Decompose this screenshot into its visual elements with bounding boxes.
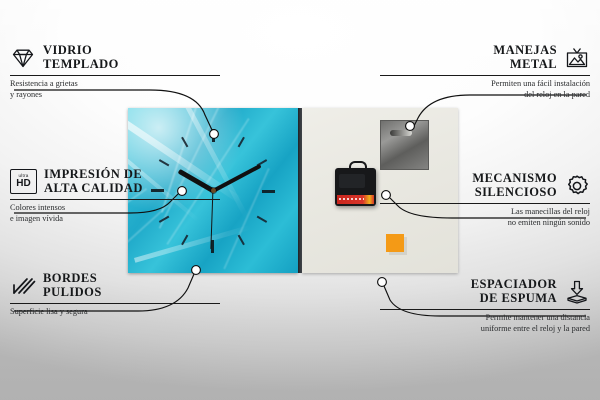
- feature-desc-line1: Permite mantener una distancia: [380, 313, 590, 324]
- divider: [10, 75, 220, 76]
- feature-header: MECANISMO SILENCIOSO: [380, 172, 590, 199]
- feature-header: BORDES PULIDOS: [10, 272, 220, 299]
- feature-header: VIDRIO TEMPLADO: [10, 44, 220, 71]
- feature-title: VIDRIO TEMPLADO: [43, 44, 119, 71]
- picture-frame-icon: [564, 45, 590, 71]
- quartz-mechanism: [335, 168, 376, 206]
- feature-header: ultra HD IMPRESIÓN DE ALTA CALIDAD: [10, 168, 220, 195]
- feature-desc-line2: e imagen vívida: [10, 214, 220, 225]
- feature-title: MECANISMO SILENCIOSO: [472, 172, 557, 199]
- gear-icon: [564, 173, 590, 199]
- feature-desc-line2: del reloj en la pared: [380, 90, 590, 101]
- feature-title: IMPRESIÓN DE ALTA CALIDAD: [44, 168, 143, 195]
- divider: [380, 203, 590, 204]
- feature-desc-line1: Permiten una fácil instalación: [380, 79, 590, 90]
- feature-header: ESPACIADOR DE ESPUMA: [380, 278, 590, 305]
- feature-desc-line2: y rayones: [10, 90, 220, 101]
- feature-desc-line1: Colores intensos: [10, 203, 220, 214]
- feature-desc-line1: Superficie lisa y segura: [10, 307, 220, 318]
- feature-mecanismo-silencioso[interactable]: MECANISMO SILENCIOSO Las manecillas del …: [380, 172, 590, 228]
- feature-title: ESPACIADOR DE ESPUMA: [471, 278, 557, 305]
- diamond-icon: [10, 45, 36, 71]
- polished-edges-icon: [10, 273, 36, 299]
- divider: [10, 199, 220, 200]
- feature-title: MANEJAS METAL: [493, 44, 557, 71]
- ultra-hd-icon: ultra HD: [10, 169, 37, 194]
- feature-title: BORDES PULIDOS: [43, 272, 102, 299]
- feature-vidrio-templado[interactable]: VIDRIO TEMPLADO Resistencia a grietas y …: [10, 44, 220, 100]
- mechanism-handle: [349, 161, 367, 172]
- feature-bordes-pulidos[interactable]: BORDES PULIDOS Superficie lisa y segura: [10, 272, 220, 318]
- feature-header: MANEJAS METAL: [380, 44, 590, 71]
- foam-spacer-icon: [564, 279, 590, 305]
- hanger-slot: [390, 130, 412, 136]
- divider: [380, 309, 590, 310]
- metal-hanger-plate: [380, 120, 429, 170]
- ultra-hd-icon-main: HD: [16, 179, 30, 189]
- divider: [10, 303, 220, 304]
- mechanism-label: [337, 195, 374, 204]
- feature-espaciador-espuma[interactable]: ESPACIADOR DE ESPUMA Permite mantener un…: [380, 278, 590, 334]
- feature-impresion-alta-calidad[interactable]: ultra HD IMPRESIÓN DE ALTA CALIDAD Color…: [10, 168, 220, 224]
- mechanism-body: [339, 174, 365, 188]
- feature-desc-line2: uniforme entre el reloj y la pared: [380, 324, 590, 335]
- feature-desc-line1: Las manecillas del reloj: [380, 207, 590, 218]
- feature-desc-line2: no emiten ningún sonido: [380, 218, 590, 229]
- foam-spacer: [386, 234, 404, 252]
- infographic-canvas: VIDRIO TEMPLADO Resistencia a grietas y …: [0, 0, 600, 400]
- divider: [380, 75, 590, 76]
- feature-desc-line1: Resistencia a grietas: [10, 79, 220, 90]
- feature-manejas-metal[interactable]: MANEJAS METAL Permiten una fácil instala…: [380, 44, 590, 100]
